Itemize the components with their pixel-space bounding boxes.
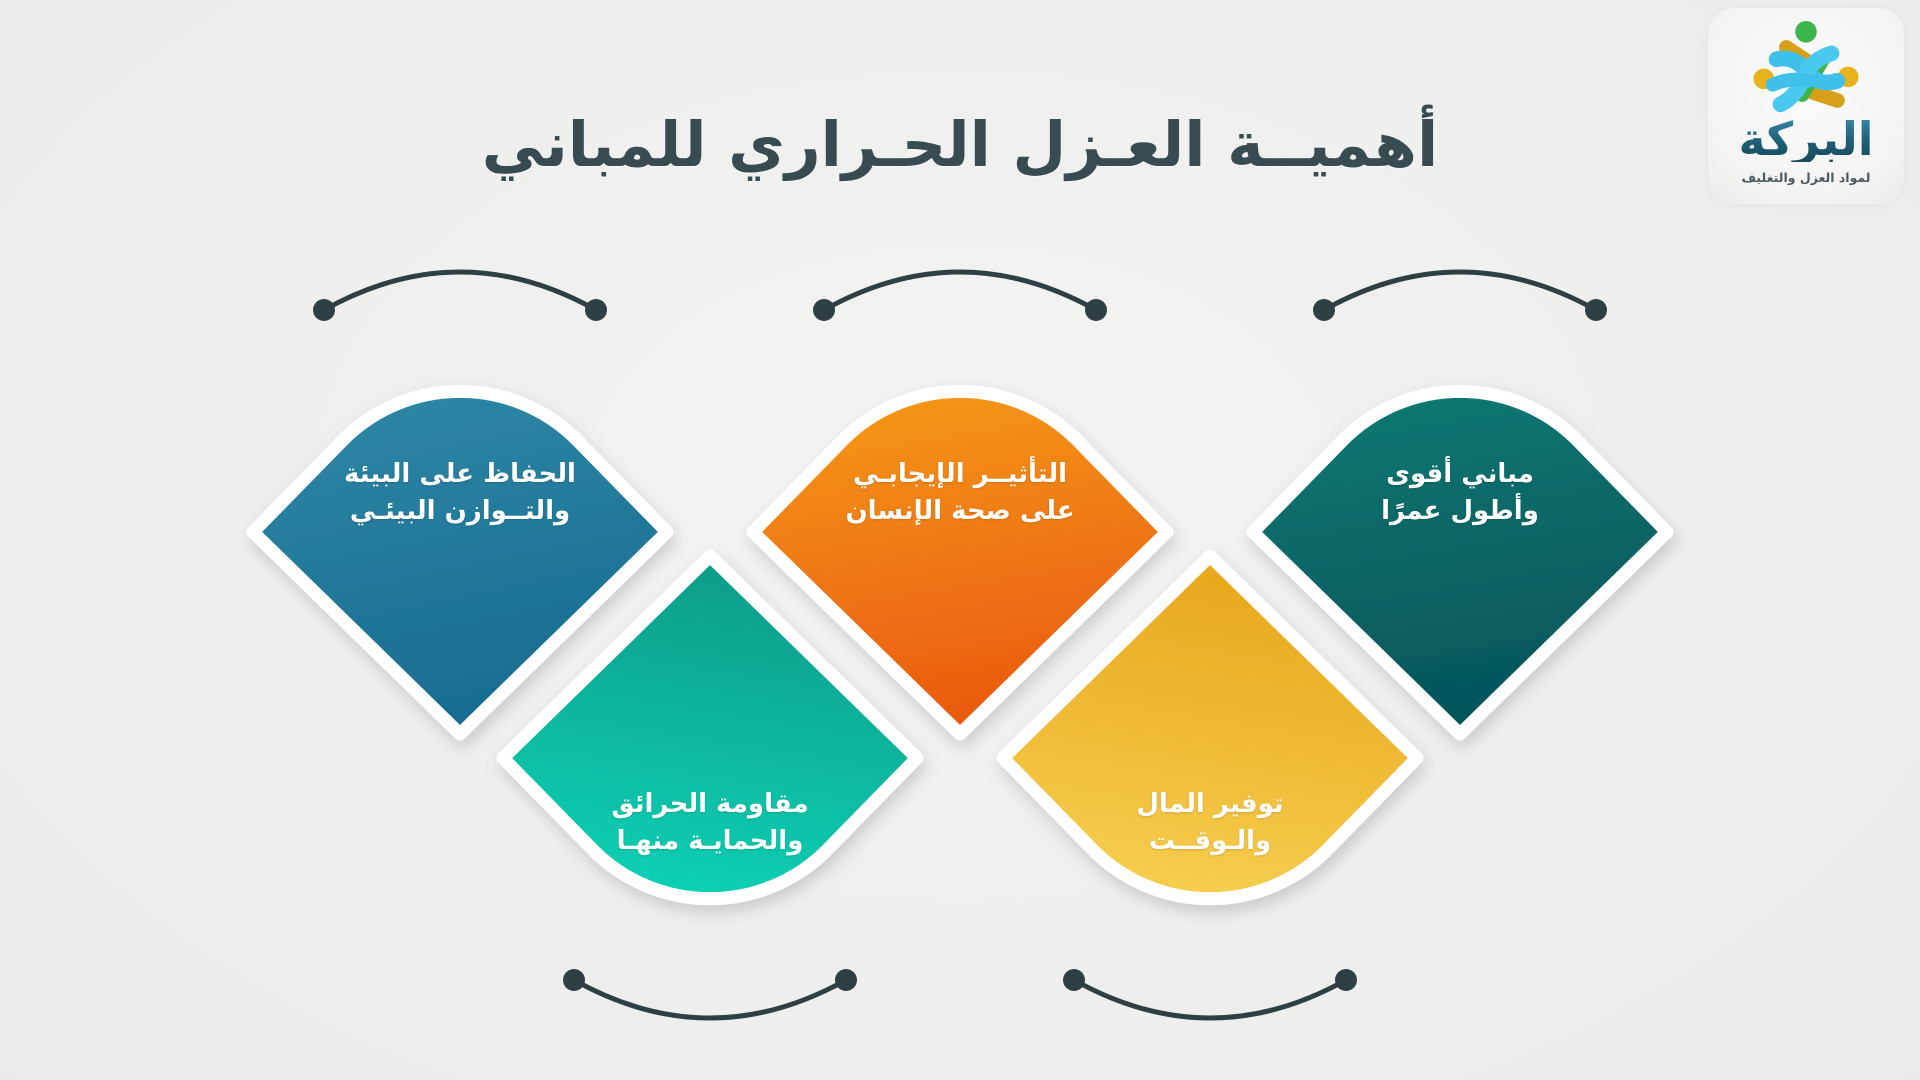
arc-end-dot <box>1063 969 1085 991</box>
arc-end-dot <box>563 969 585 991</box>
infographic-canvas: البركة لمواد العزل والتغليف أهميــة العـ… <box>0 0 1920 1080</box>
connector-arc-down <box>560 962 860 1042</box>
connector-arc-down <box>1060 962 1360 1042</box>
page-title: أهميــة العـزل الحـراري للمباني <box>0 108 1920 181</box>
node-shape-stronger-buildings <box>1245 310 1675 740</box>
diamond-diagram: الحفاظ على البيئة والتــوازن البيئـي <box>0 300 1920 1000</box>
node-stronger-buildings[interactable]: مباني أقوى وأطول عمرًا <box>1245 310 1675 740</box>
arc-end-dot <box>1335 969 1357 991</box>
arc-end-dot <box>835 969 857 991</box>
